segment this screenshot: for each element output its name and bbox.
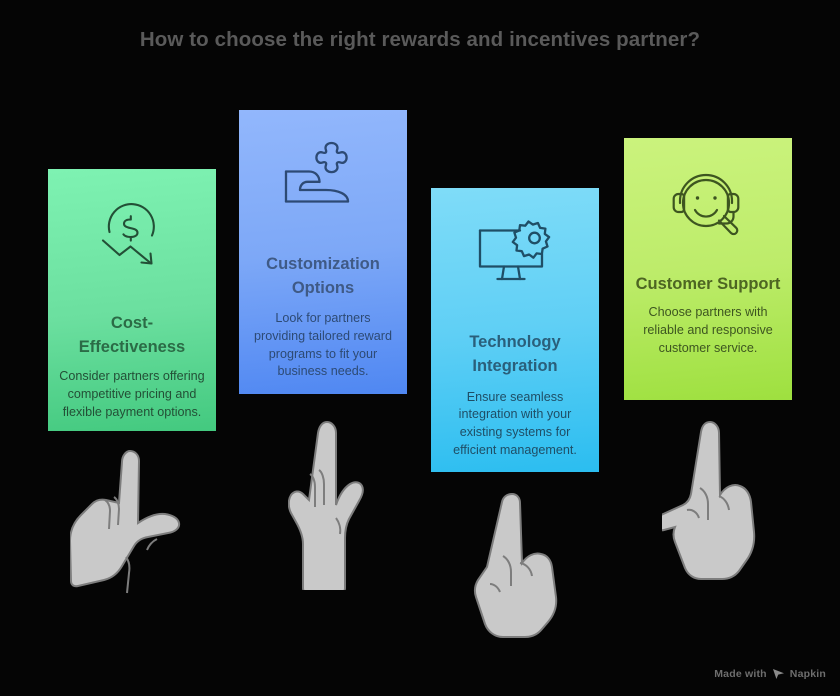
- watermark: Made with Napkin: [714, 668, 826, 680]
- infographic-canvas: How to choose the right rewards and ince…: [0, 0, 840, 696]
- headset-smiley-icon: [634, 166, 782, 246]
- card-technology-integration[interactable]: Technology Integration Ensure seamless i…: [431, 188, 599, 472]
- card-description: Ensure seamless integration with your ex…: [441, 389, 589, 461]
- page-title: How to choose the right rewards and ince…: [0, 28, 840, 52]
- napkin-logo-icon: [772, 668, 785, 680]
- card-title: Customization Options: [249, 252, 397, 301]
- card-customer-support[interactable]: Customer Support Choose partners with re…: [624, 138, 792, 400]
- watermark-brand: Napkin: [790, 668, 826, 680]
- pointing-hand-icon: [288, 418, 380, 590]
- card-description: Look for partners providing tailored rew…: [249, 310, 397, 382]
- pointing-hand-icon: [70, 445, 188, 627]
- card-description: Choose partners with reliable and respon…: [634, 304, 782, 358]
- puzzle-piece-hand-icon: [249, 136, 397, 222]
- monitor-gear-icon: [441, 216, 589, 298]
- pointing-hand-icon: [662, 418, 766, 596]
- card-title: Cost-Effectiveness: [58, 311, 206, 360]
- pointing-hand-icon: [468, 490, 568, 645]
- watermark-text: Made with: [714, 668, 767, 680]
- card-title: Customer Support: [634, 272, 782, 296]
- card-cost-effectiveness[interactable]: Cost-Effectiveness Consider partners off…: [48, 169, 216, 431]
- card-description: Consider partners offering competitive p…: [58, 368, 206, 422]
- card-customization-options[interactable]: Customization Options Look for partners …: [239, 110, 407, 394]
- dollar-circle-down-arrow-icon: [58, 201, 206, 277]
- card-title: Technology Integration: [441, 330, 589, 379]
